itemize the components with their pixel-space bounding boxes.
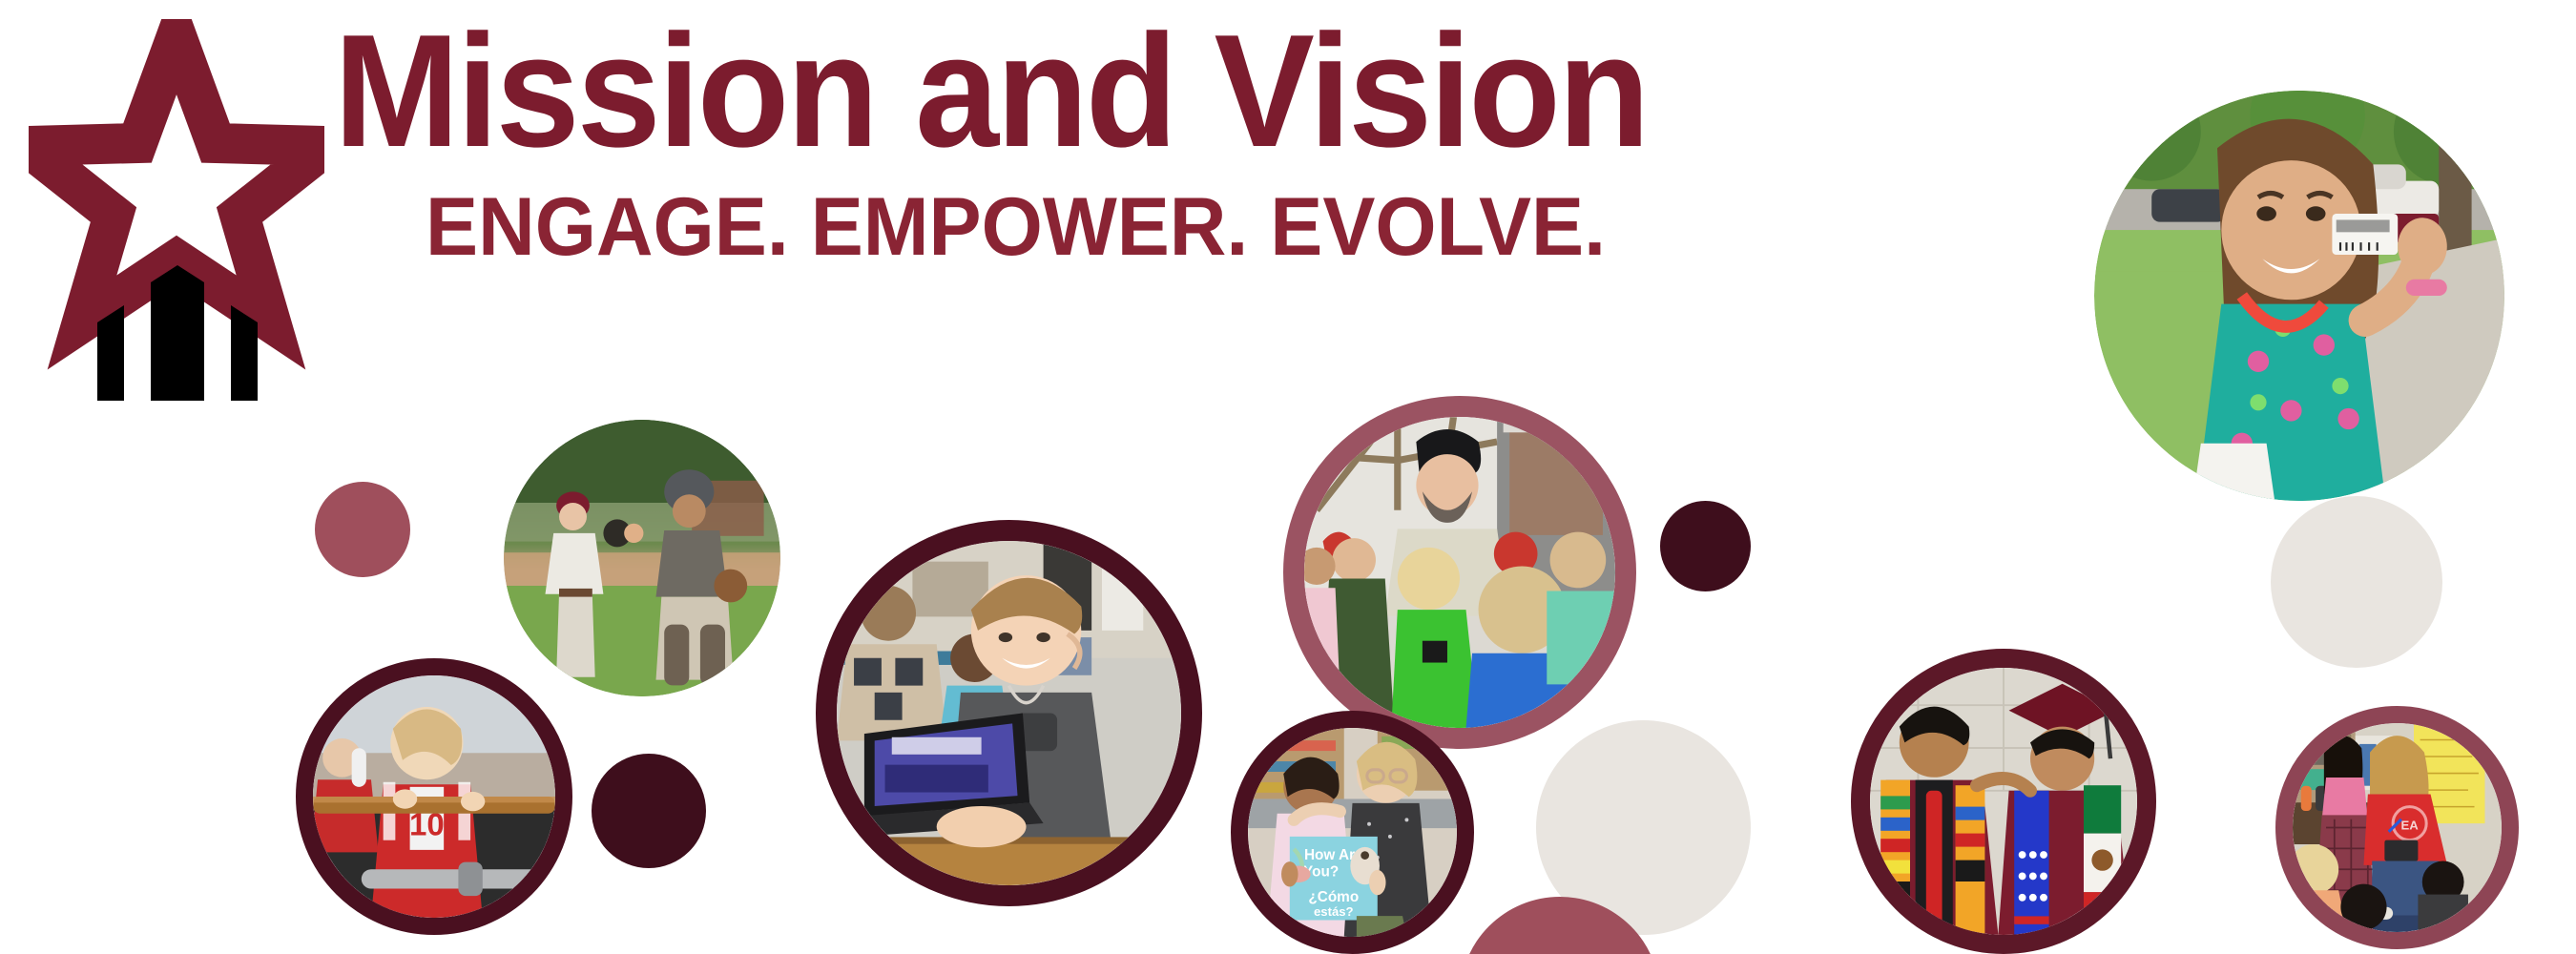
dark-dot-left [592,754,706,868]
beige-dot-right [2271,496,2442,668]
dark-dot-center [1660,501,1751,591]
photo-two-girls-book[interactable]: How Are You? ¿Cómo estás? [1231,711,1474,954]
photo-boy-laptop-image [837,541,1181,885]
photo-two-girls-book-image: How Are You? ¿Cómo estás? [1248,728,1457,937]
star-and-columns-icon [29,19,324,401]
svg-text:¿Cómo: ¿Cómo [1308,889,1359,905]
svg-text:EA: EA [2401,819,2420,833]
photo-girl-school-id-image [2094,91,2504,501]
photo-graduates-image [1870,668,2137,935]
svg-text:estás?: estás? [1314,904,1354,919]
mission-and-vision-banner: Mission and Vision ENGAGE. EMPOWER. EVOL… [0,0,2576,954]
photo-teacher-students[interactable]: EA [2275,706,2519,949]
photo-greenhouse-class[interactable] [1283,396,1636,749]
photo-greenhouse-class-image [1304,417,1615,728]
page-subtitle: ENGAGE. EMPOWER. EVOLVE. [334,186,1726,270]
photo-teacher-students-image: EA [2293,723,2502,932]
district-logo[interactable] [29,19,324,401]
photo-graduates[interactable] [1851,649,2156,954]
photo-baseball-fist-bump-image [504,420,780,696]
photo-girl-fire-truck-image: 10 [313,675,555,918]
rose-dot-small-left [315,482,410,577]
photo-boy-laptop[interactable] [816,520,1202,906]
photo-girl-school-id[interactable] [2094,91,2504,501]
heading-block: Mission and Vision ENGAGE. EMPOWER. EVOL… [334,10,1784,270]
photo-girl-fire-truck[interactable]: 10 [296,658,572,935]
photo-baseball-fist-bump[interactable] [504,420,780,696]
page-title: Mission and Vision [334,10,1697,173]
